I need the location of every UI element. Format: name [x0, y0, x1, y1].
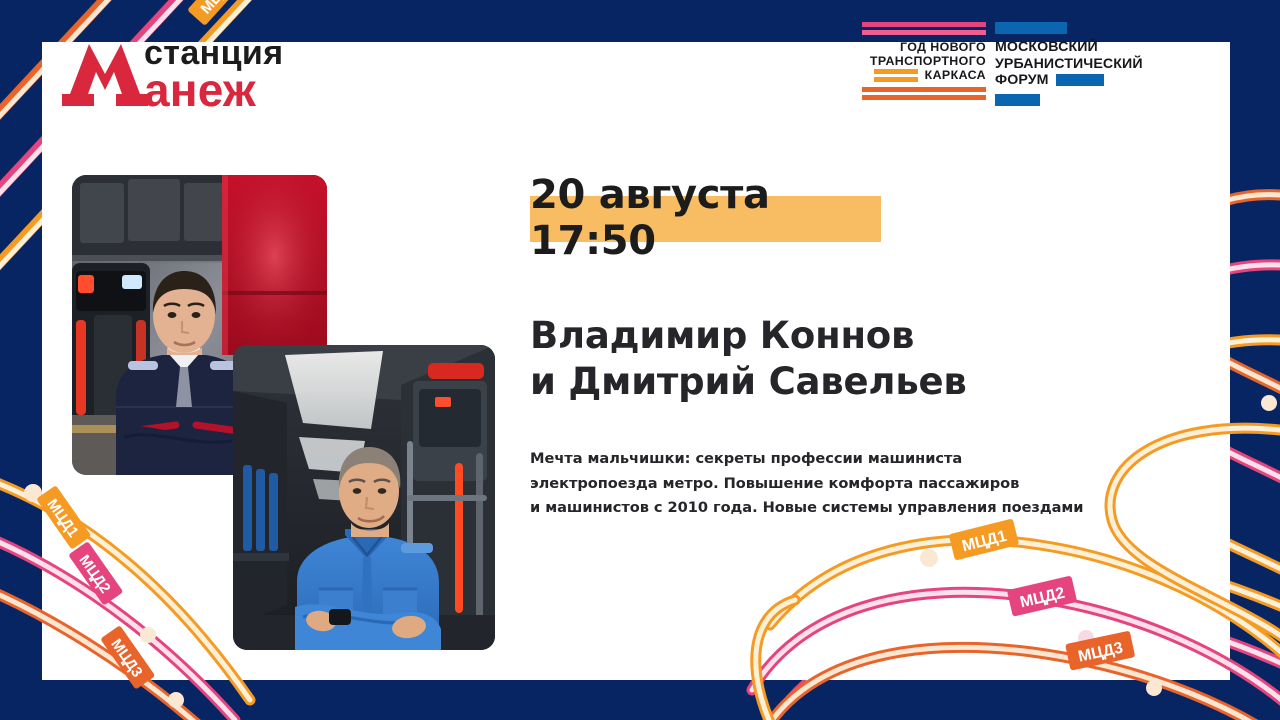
forum-logo-line-1: МОСКОВСКИЙ: [995, 39, 1098, 56]
event-content: 20 августа 17:50 Владимир Коннов и Дмитр…: [530, 172, 1190, 521]
year-logo-bar-orange-1: [874, 69, 918, 74]
speaker-photo-2: Машинист в голубой рубашке в вагоне метр…: [233, 345, 495, 650]
svg-text:МЦД1: МЦД1: [197, 0, 238, 17]
year-logo-bar-pink-1: [862, 22, 986, 27]
year-logo-line-1: ГОД НОВОГО: [900, 40, 986, 54]
manezh-logo-svg: станция анеж: [58, 22, 308, 122]
event-datetime: 20 августа 17:50: [530, 172, 1190, 264]
event-abstract: Мечта мальчишки: секреты профессии машин…: [530, 447, 1190, 521]
speaker-names: Владимир Коннов и Дмитрий Савельев: [530, 313, 1190, 405]
forum-logo-line-3-row: ФОРУМ: [995, 72, 1104, 89]
speaker-photo-2-image: [233, 345, 495, 650]
forum-logo-line-3: ФОРУМ: [995, 72, 1049, 89]
forum-logo-bar-top: [995, 22, 1067, 34]
year-logo-bar-orangedark-1: [862, 87, 986, 92]
forum-logo-line-2: УРБАНИСТИЧЕСКИЙ: [995, 56, 1143, 73]
manezh-logo: станция анеж станция анеж: [58, 22, 308, 127]
year-logo-bar-orange-2: [874, 77, 918, 82]
moscow-urban-forum-logo: МОСКОВСКИЙ УРБАНИСТИЧЕСКИЙ ФОРУМ: [995, 20, 1143, 106]
year-logo-line-3: КАРКАСА: [925, 68, 986, 82]
poster-stage: станция анеж станция анеж ГОД НОВОГО ТРА…: [0, 0, 1280, 720]
year-of-transport-logo: ГОД НОВОГО ТРАНСПОРТНОГО КАРКАСА: [862, 20, 986, 100]
year-logo-bar-pink-2: [862, 30, 986, 35]
metro-m-icon: [62, 44, 148, 106]
forum-logo-bar-bottom: [995, 94, 1040, 106]
year-logo-bar-orangedark-2: [862, 95, 986, 100]
svg-text:анеж: анеж: [144, 64, 256, 116]
forum-logo-bar-inline: [1056, 74, 1104, 86]
forum-logo-lockup: ГОД НОВОГО ТРАНСПОРТНОГО КАРКАСА МОСКОВС…: [862, 20, 1143, 106]
year-logo-line-3-row: КАРКАСА: [874, 68, 986, 82]
datetime-text: 20 августа 17:50: [530, 172, 1190, 264]
year-logo-line-2: ТРАНСПОРТНОГО: [870, 54, 986, 68]
